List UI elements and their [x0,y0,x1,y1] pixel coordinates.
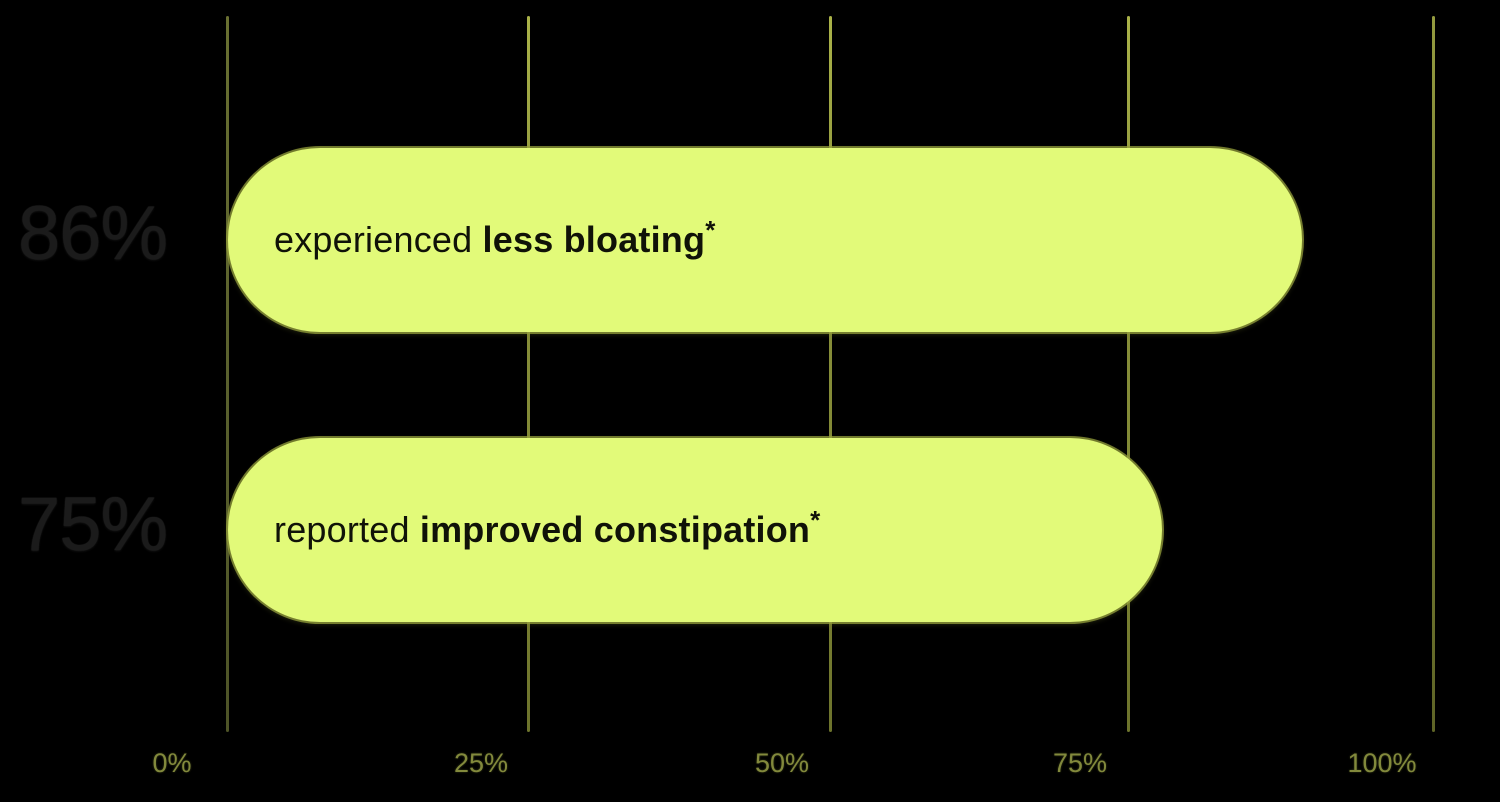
gridline-25 [527,16,530,732]
bar-2-footnote-marker: * [810,505,820,535]
bar-1-emphasis-text: less bloating [483,219,706,260]
gridline-0 [226,16,229,732]
bar-2-emphasis-text: improved constipation [420,509,810,550]
bar-2-lead-text: reported [274,509,420,550]
value-label-bar-1: 86% [18,196,214,272]
gridline-75 [1127,16,1130,732]
x-tick-label-25: 25% [454,748,508,779]
bar-2-label: reported improved constipation* [228,509,820,551]
value-label-bar-2: 75% [18,487,214,563]
x-tick-label-75: 75% [1053,748,1107,779]
bar-2: reported improved constipation* [228,438,1162,622]
x-tick-label-100: 100% [1347,748,1416,779]
bar-1: experienced less bloating* [228,148,1302,332]
x-tick-label-50: 50% [755,748,809,779]
x-axis-tick-labels: 0% 25% 50% 75% 100% [0,748,1500,794]
gridlines-layer [0,0,1500,802]
bar-1-footnote-marker: * [705,215,715,245]
bar-1-label: experienced less bloating* [228,219,716,261]
bar-1-lead-text: experienced [274,219,483,260]
gridline-100 [1432,16,1435,732]
horizontal-bar-chart: 86% experienced less bloating* 75% repor… [0,0,1500,802]
x-tick-label-0: 0% [152,748,191,779]
gridline-50 [829,16,832,732]
